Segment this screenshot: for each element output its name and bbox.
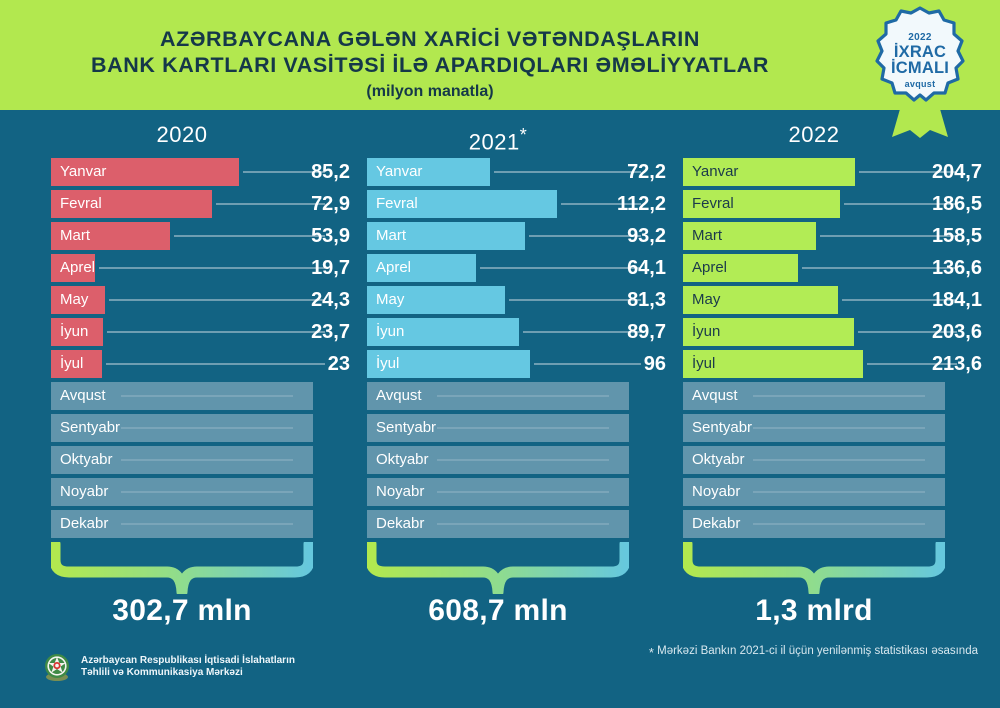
month-label: Noyabr	[692, 478, 740, 506]
month-label: Dekabr	[376, 510, 424, 538]
month-row[interactable]: Fevral186,5	[672, 190, 982, 218]
connector-line	[753, 395, 925, 397]
title-line-2: BANK KARTLARI VASİTƏSİ İLƏ APARDIQLARI Ə…	[0, 52, 860, 78]
month-label: Noyabr	[60, 478, 108, 506]
month-value: 136,6	[682, 254, 982, 282]
month-row[interactable]: Oktyabr	[40, 446, 350, 474]
month-row[interactable]: Avqust	[672, 382, 982, 410]
connector-line	[121, 427, 293, 429]
curly-brace-icon	[51, 542, 313, 594]
month-row[interactable]: Fevral72,9	[40, 190, 350, 218]
month-label: Sentyabr	[60, 414, 120, 442]
month-value: 24,3	[50, 286, 350, 314]
month-label: Oktyabr	[60, 446, 113, 474]
header-titles: AZƏRBAYCANA GƏLƏN XARİCİ VƏTƏNDAŞLARIN B…	[0, 26, 860, 101]
month-label: Dekabr	[692, 510, 740, 538]
month-row[interactable]: Dekabr	[40, 510, 350, 538]
month-label: Avqust	[60, 382, 106, 410]
connector-line	[753, 459, 925, 461]
month-row[interactable]: Aprel136,6	[672, 254, 982, 282]
month-row[interactable]: Mart53,9	[40, 222, 350, 250]
month-row[interactable]: Aprel64,1	[356, 254, 666, 282]
month-value: 53,9	[50, 222, 350, 250]
month-value: 96	[366, 350, 666, 378]
title-line-1: AZƏRBAYCANA GƏLƏN XARİCİ VƏTƏNDAŞLARIN	[0, 26, 860, 52]
month-label: Avqust	[692, 382, 738, 410]
connector-line	[121, 395, 293, 397]
connector-line	[437, 523, 609, 525]
month-value: 81,3	[366, 286, 666, 314]
header-banner: AZƏRBAYCANA GƏLƏN XARİCİ VƏTƏNDAŞLARIN B…	[0, 0, 1000, 110]
connector-line	[753, 523, 925, 525]
year-column-2020: 2020Yanvar85,2Fevral72,9Mart53,9Aprel19,…	[40, 118, 350, 642]
month-value: 184,1	[682, 286, 982, 314]
month-value: 93,2	[366, 222, 666, 250]
curly-brace-icon	[367, 542, 629, 594]
month-value: 72,2	[366, 158, 666, 186]
month-row[interactable]: Noyabr	[40, 478, 350, 506]
month-label: Sentyabr	[692, 414, 752, 442]
month-row[interactable]: İyul23	[40, 350, 350, 378]
connector-line	[437, 427, 609, 429]
month-row[interactable]: Noyabr	[356, 478, 666, 506]
year-column-2022: 2022Yanvar204,7Fevral186,5Mart158,5Aprel…	[672, 118, 982, 642]
month-value: 213,6	[682, 350, 982, 378]
month-row[interactable]: May184,1	[672, 286, 982, 314]
month-row[interactable]: Dekabr	[356, 510, 666, 538]
month-row[interactable]: İyun89,7	[356, 318, 666, 346]
month-value: 203,6	[682, 318, 982, 346]
month-value: 112,2	[366, 190, 666, 218]
month-row[interactable]: Noyabr	[672, 478, 982, 506]
header-subtitle: (milyon manatla)	[0, 83, 860, 101]
month-row[interactable]: Aprel19,7	[40, 254, 350, 282]
year-column-2021: 2021*Yanvar72,2Fevral112,2Mart93,2Aprel6…	[356, 118, 666, 642]
month-value: 19,7	[50, 254, 350, 282]
month-label: Noyabr	[376, 478, 424, 506]
connector-line	[121, 459, 293, 461]
footnote-star: *	[649, 645, 654, 660]
month-row[interactable]: Yanvar85,2	[40, 158, 350, 186]
month-row[interactable]: Sentyabr	[40, 414, 350, 442]
month-rows: Yanvar204,7Fevral186,5Mart158,5Aprel136,…	[672, 158, 982, 538]
month-label: Sentyabr	[376, 414, 436, 442]
column-year-label-2020: 2020	[51, 118, 313, 152]
organization-name-line-2: Təhlili və Kommunikasiya Mərkəzi	[81, 667, 295, 680]
month-row[interactable]: Fevral112,2	[356, 190, 666, 218]
month-row[interactable]: Sentyabr	[356, 414, 666, 442]
month-value: 72,9	[50, 190, 350, 218]
month-row[interactable]: Yanvar72,2	[356, 158, 666, 186]
month-row[interactable]: Sentyabr	[672, 414, 982, 442]
azerbaijan-state-emblem-icon	[42, 652, 72, 682]
connector-line	[437, 395, 609, 397]
month-value: 23	[50, 350, 350, 378]
month-value: 204,7	[682, 158, 982, 186]
connector-line	[437, 459, 609, 461]
month-label: Dekabr	[60, 510, 108, 538]
month-row[interactable]: İyun203,6	[672, 318, 982, 346]
month-value: 158,5	[682, 222, 982, 250]
total-group: 1,3 mlrd	[672, 542, 982, 642]
month-value: 23,7	[50, 318, 350, 346]
month-label: Oktyabr	[376, 446, 429, 474]
footnote: * Mərkəzi Bankın 2021-ci il üçün yenilən…	[649, 645, 978, 660]
month-row[interactable]: Yanvar204,7	[672, 158, 982, 186]
month-row[interactable]: Avqust	[356, 382, 666, 410]
month-value: 89,7	[366, 318, 666, 346]
organization-name-line-1: Azərbaycan Respublikası İqtisadi İslahat…	[81, 655, 295, 668]
month-row[interactable]: Mart158,5	[672, 222, 982, 250]
column-year-label-2022: 2022	[683, 118, 945, 152]
month-row[interactable]: Oktyabr	[356, 446, 666, 474]
month-row[interactable]: May24,3	[40, 286, 350, 314]
month-rows: Yanvar72,2Fevral112,2Mart93,2Aprel64,1Ma…	[356, 158, 666, 538]
connector-line	[121, 523, 293, 525]
column-total-2022: 1,3 mlrd	[672, 594, 956, 628]
connector-line	[437, 491, 609, 493]
connector-line	[753, 427, 925, 429]
infographic-root: AZƏRBAYCANA GƏLƏN XARİCİ VƏTƏNDAŞLARIN B…	[0, 0, 1000, 708]
month-rows: Yanvar85,2Fevral72,9Mart53,9Aprel19,7May…	[40, 158, 350, 538]
total-group: 302,7 mln	[40, 542, 350, 642]
month-row[interactable]: İyun23,7	[40, 318, 350, 346]
organization-logo: Azərbaycan Respublikası İqtisadi İslahat…	[42, 652, 295, 682]
total-group: 608,7 mln	[356, 542, 666, 642]
month-row[interactable]: Avqust	[40, 382, 350, 410]
footnote-text: Mərkəzi Bankın 2021-ci il üçün yenilənmi…	[657, 645, 978, 657]
column-total-2021: 608,7 mln	[356, 594, 640, 628]
month-label: Oktyabr	[692, 446, 745, 474]
month-value: 186,5	[682, 190, 982, 218]
column-total-2020: 302,7 mln	[40, 594, 324, 628]
connector-line	[121, 491, 293, 493]
connector-line	[753, 491, 925, 493]
month-row[interactable]: Mart93,2	[356, 222, 666, 250]
month-row[interactable]: İyul96	[356, 350, 666, 378]
year-asterisk: *	[520, 125, 528, 145]
curly-brace-icon	[683, 542, 945, 594]
month-row[interactable]: May81,3	[356, 286, 666, 314]
column-year-label-2021: 2021*	[367, 118, 629, 152]
month-row[interactable]: İyul213,6	[672, 350, 982, 378]
month-value: 85,2	[50, 158, 350, 186]
organization-name: Azərbaycan Respublikası İqtisadi İslahat…	[81, 655, 295, 680]
month-row[interactable]: Dekabr	[672, 510, 982, 538]
month-row[interactable]: Oktyabr	[672, 446, 982, 474]
month-value: 64,1	[366, 254, 666, 282]
month-label: Avqust	[376, 382, 422, 410]
